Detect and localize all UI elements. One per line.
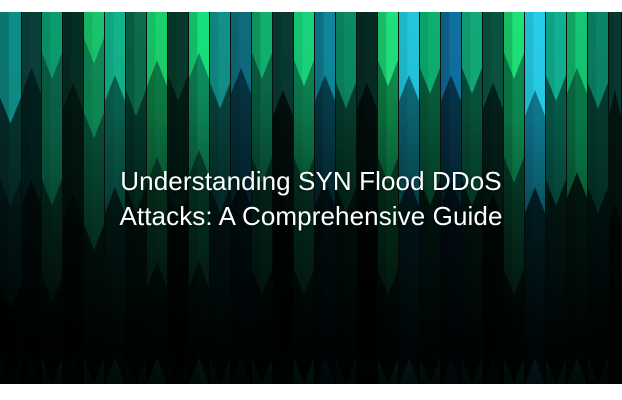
abstract-chevron-stripes-artwork <box>0 12 622 384</box>
article-hero-banner: Understanding SYN Flood DDoS Attacks: A … <box>0 12 622 384</box>
article-page: Understanding SYN Flood DDoS Attacks: A … <box>0 0 622 400</box>
